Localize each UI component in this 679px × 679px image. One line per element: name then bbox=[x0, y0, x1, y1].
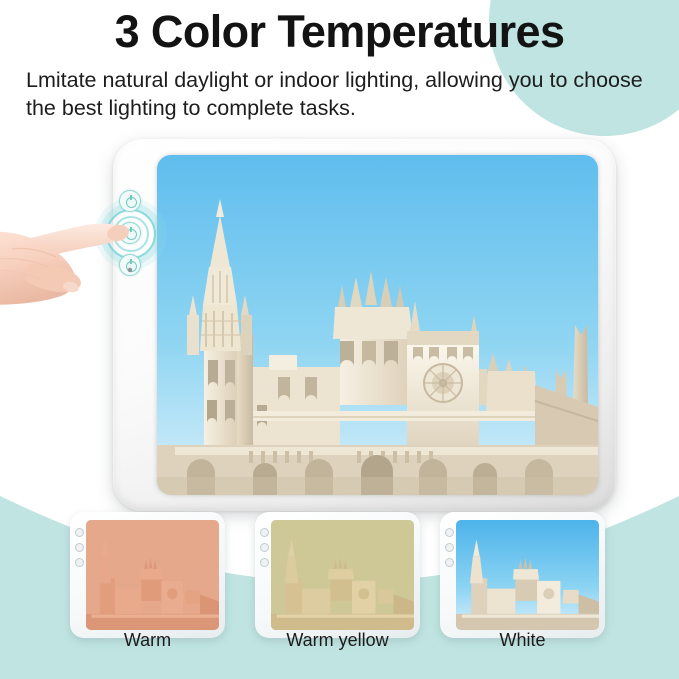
thumbnail-frame bbox=[255, 512, 420, 638]
promo-stage: 3 Color Temperatures Lmitate natural day… bbox=[0, 0, 679, 679]
main-device-frame bbox=[113, 139, 616, 511]
thumbnail-frame bbox=[440, 512, 605, 638]
bezel-dots bbox=[445, 528, 454, 573]
thumbnail-screen bbox=[271, 520, 414, 630]
page-subtitle: Lmitate natural daylight or indoor light… bbox=[26, 66, 656, 122]
thumbnail-warm[interactable]: Warm bbox=[70, 512, 225, 638]
thumbnail-caption: Warm bbox=[70, 630, 225, 651]
thumbnail-frame bbox=[70, 512, 225, 638]
device-screen bbox=[157, 155, 598, 495]
bezel-dots bbox=[260, 528, 269, 573]
cathedral-illustration bbox=[157, 155, 598, 495]
thumbnail-warm-yellow[interactable]: Warm yellow bbox=[255, 512, 420, 638]
thumbnail-screen bbox=[86, 520, 219, 630]
page-title: 3 Color Temperatures bbox=[0, 6, 679, 58]
thumbnail-caption: Warm yellow bbox=[255, 630, 420, 651]
color-temperature-options: Warm bbox=[0, 512, 679, 679]
thumbnail-caption: White bbox=[440, 630, 605, 651]
thumbnail-screen bbox=[456, 520, 599, 630]
thumbnail-white[interactable]: White bbox=[440, 512, 605, 638]
bezel-dots bbox=[75, 528, 84, 573]
pointing-hand bbox=[0, 205, 154, 325]
